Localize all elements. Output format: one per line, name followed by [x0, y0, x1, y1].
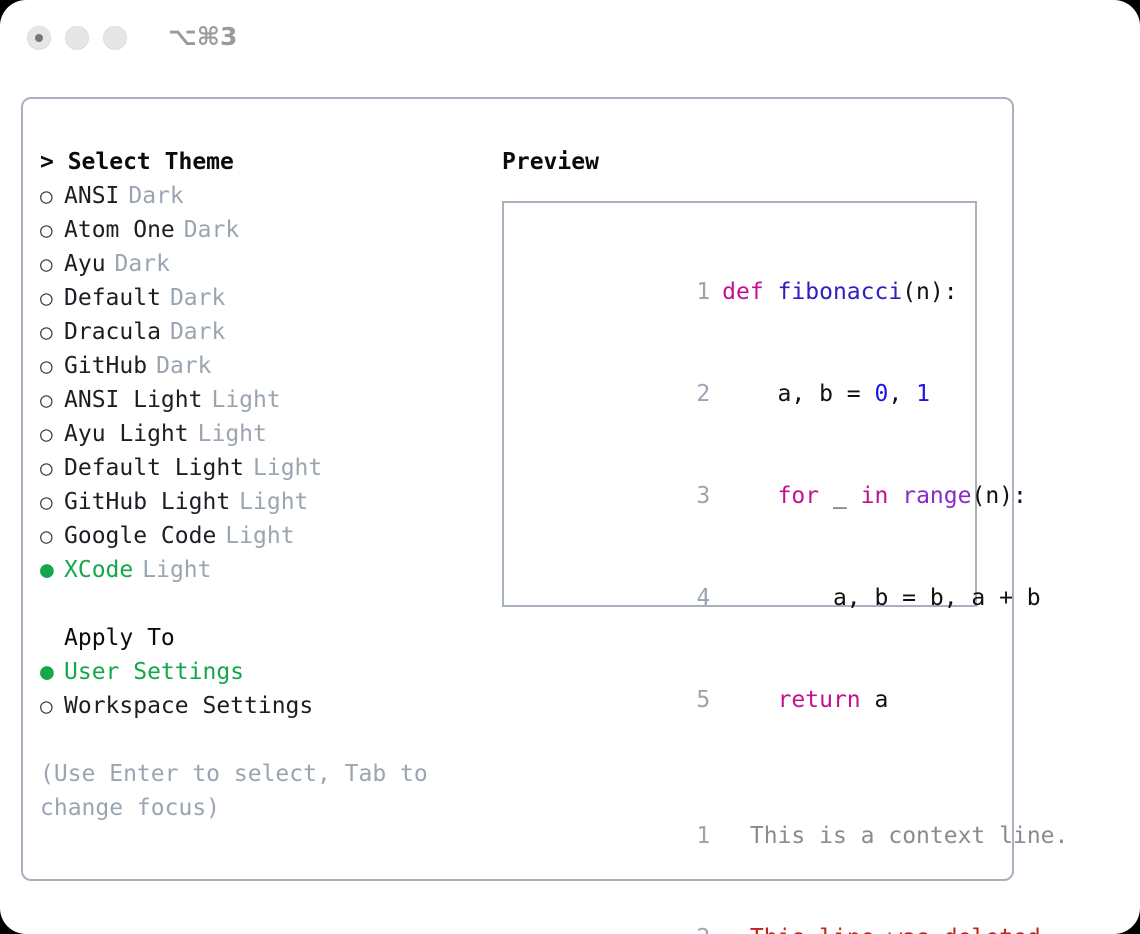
theme-name: Default — [64, 281, 161, 315]
code-token: a, b = b, a + b — [722, 585, 1041, 611]
theme-kind-label: Dark — [147, 349, 211, 383]
radio-unselected-icon: ○ — [40, 689, 64, 723]
preview-panel: Preview 1def fibonacci(n): 2 a, b = 0, 1… — [502, 145, 1002, 607]
apply-to-panel: Apply To ● User Settings ○ Workspace Set… — [40, 621, 500, 723]
radio-unselected-icon: ○ — [40, 417, 64, 451]
minimize-button[interactable] — [65, 26, 89, 50]
diff-text: This is a context line. — [736, 823, 1068, 849]
theme-kind-label: Dark — [161, 315, 225, 349]
radio-unselected-icon: ○ — [40, 281, 64, 315]
theme-name: Ayu — [64, 247, 106, 281]
window-title: ⌥⌘3 — [168, 22, 237, 51]
theme-name: ANSI Light — [64, 383, 202, 417]
theme-list-item-google-code[interactable]: ○ Google Code Light — [40, 519, 500, 553]
theme-kind-label: Dark — [161, 281, 225, 315]
card-columns: > Select Theme ○ ANSI Dark ○ Atom One Da… — [23, 99, 1012, 879]
diff-line-context: 1 This is a context line. — [522, 785, 975, 887]
radio-unselected-icon: ○ — [40, 485, 64, 519]
radio-unselected-icon: ○ — [40, 349, 64, 383]
theme-kind-label: Light — [189, 417, 267, 451]
main-card: > Select Theme ○ ANSI Dark ○ Atom One Da… — [21, 97, 1014, 881]
theme-name: XCode — [64, 553, 133, 587]
close-button[interactable] — [27, 26, 51, 50]
apply-to-option-label: Workspace Settings — [64, 689, 313, 723]
code-line: 2 a, b = 0, 1 — [522, 343, 975, 445]
code-token: in — [861, 483, 889, 509]
line-number: 3 — [688, 479, 710, 513]
theme-kind-label: Dark — [119, 179, 183, 213]
code-token: a, b = — [722, 381, 874, 407]
theme-kind-label: Light — [202, 383, 280, 417]
theme-name: Default Light — [64, 451, 244, 485]
diff-marker: - — [722, 925, 736, 934]
theme-list-item-ayu-light[interactable]: ○ Ayu Light Light — [40, 417, 500, 451]
theme-selection-panel: > Select Theme ○ ANSI Dark ○ Atom One Da… — [40, 145, 500, 825]
code-token — [722, 483, 777, 509]
close-dot-icon — [35, 34, 43, 42]
code-token — [722, 687, 777, 713]
apply-to-option-workspace-settings[interactable]: ○ Workspace Settings — [40, 689, 500, 723]
line-number: 1 — [688, 819, 710, 853]
diff-marker — [722, 823, 736, 849]
preview-box: 1def fibonacci(n): 2 a, b = 0, 1 3 for _… — [502, 201, 977, 607]
apply-to-option-user-settings[interactable]: ● User Settings — [40, 655, 500, 689]
preview-heading: Preview — [502, 145, 1002, 179]
radio-unselected-icon: ○ — [40, 213, 64, 247]
theme-kind-label: Light — [244, 451, 322, 485]
line-number: 1 — [688, 275, 710, 309]
code-line: 4 a, b = b, a + b — [522, 547, 975, 649]
radio-unselected-icon: ○ — [40, 315, 64, 349]
theme-name: Atom One — [64, 213, 175, 247]
theme-name: GitHub Light — [64, 485, 230, 519]
code-token — [888, 483, 902, 509]
preview-spacer — [522, 751, 975, 785]
radio-unselected-icon: ○ — [40, 383, 64, 417]
theme-name: Google Code — [64, 519, 216, 553]
theme-list-item-ansi-light[interactable]: ○ ANSI Light Light — [40, 383, 500, 417]
theme-list-item-atom-one[interactable]: ○ Atom One Dark — [40, 213, 500, 247]
select-theme-heading: > Select Theme — [40, 145, 500, 179]
window-titlebar: ⌥⌘3 — [0, 0, 1140, 78]
radio-unselected-icon: ○ — [40, 451, 64, 485]
theme-name: Ayu Light — [64, 417, 189, 451]
theme-name: GitHub — [64, 349, 147, 383]
theme-list-item-default-light[interactable]: ○ Default Light Light — [40, 451, 500, 485]
theme-list-item-ansi[interactable]: ○ ANSI Dark — [40, 179, 500, 213]
code-line: 5 return a — [522, 649, 975, 751]
theme-kind-label: Light — [133, 553, 211, 587]
theme-kind-label: Light — [216, 519, 294, 553]
line-number: 2 — [688, 921, 710, 934]
code-token: 0 — [875, 381, 889, 407]
code-token: fibonacci — [778, 279, 903, 305]
line-number: 2 — [688, 377, 710, 411]
code-token: for — [778, 483, 820, 509]
apply-to-heading: Apply To — [40, 621, 500, 655]
theme-kind-label: Dark — [175, 213, 239, 247]
diff-line-deleted: 2- This line was deleted. — [522, 887, 975, 934]
theme-name: ANSI — [64, 179, 119, 213]
line-number: 4 — [688, 581, 710, 615]
app-window: ⌥⌘3 > Select Theme ○ ANSI Dark ○ Atom On… — [0, 0, 1140, 934]
code-token: range — [902, 483, 971, 509]
radio-selected-icon: ● — [40, 553, 64, 587]
theme-kind-label: Light — [230, 485, 308, 519]
code-token: def — [722, 279, 777, 305]
code-token: 1 — [916, 381, 930, 407]
code-token: (n): — [902, 279, 957, 305]
theme-list-item-github[interactable]: ○ GitHub Dark — [40, 349, 500, 383]
theme-list: ○ ANSI Dark ○ Atom One Dark ○ Ayu Dark — [40, 179, 500, 587]
theme-list-item-dracula[interactable]: ○ Dracula Dark — [40, 315, 500, 349]
apply-to-option-label: User Settings — [64, 655, 244, 689]
diff-text: This line was deleted. — [736, 925, 1055, 934]
code-token: (n): — [971, 483, 1026, 509]
code-token: _ — [819, 483, 861, 509]
theme-list-item-github-light[interactable]: ○ GitHub Light Light — [40, 485, 500, 519]
theme-list-item-xcode[interactable]: ● XCode Light — [40, 553, 500, 587]
code-line: 3 for _ in range(n): — [522, 445, 975, 547]
radio-unselected-icon: ○ — [40, 179, 64, 213]
maximize-button[interactable] — [103, 26, 127, 50]
theme-list-item-default[interactable]: ○ Default Dark — [40, 281, 500, 315]
code-token: return — [778, 687, 861, 713]
radio-unselected-icon: ○ — [40, 519, 64, 553]
theme-name: Dracula — [64, 315, 161, 349]
theme-kind-label: Dark — [106, 247, 170, 281]
window-controls — [27, 26, 127, 50]
code-token: a — [861, 687, 889, 713]
keyboard-hint-text: (Use Enter to select, Tab to change focu… — [40, 757, 452, 825]
code-line: 1def fibonacci(n): — [522, 241, 975, 343]
line-number: 5 — [688, 683, 710, 717]
code-token: , — [888, 381, 916, 407]
radio-unselected-icon: ○ — [40, 247, 64, 281]
theme-list-item-ayu[interactable]: ○ Ayu Dark — [40, 247, 500, 281]
radio-selected-icon: ● — [40, 655, 64, 689]
